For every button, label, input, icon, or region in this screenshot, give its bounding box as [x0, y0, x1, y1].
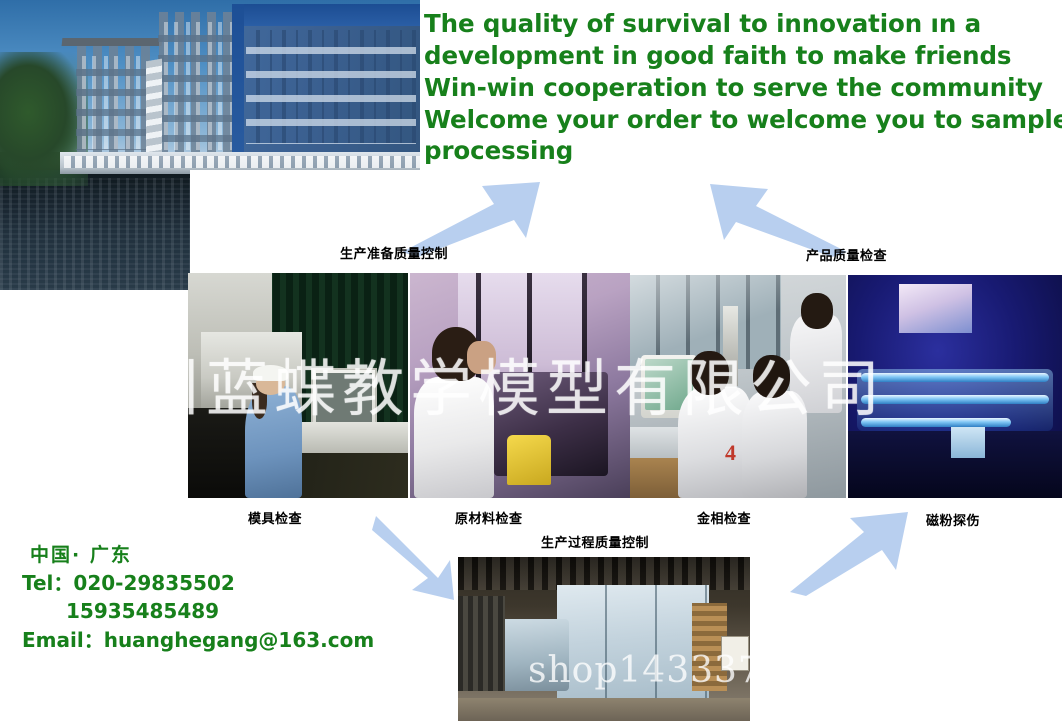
- contact-region: 中国· 广东: [22, 542, 374, 569]
- contact-telephone: Tel：020-29835502: [22, 569, 374, 597]
- label-magnetic-particle: 磁粉探伤: [926, 510, 980, 529]
- label-process-quality-control: 生产过程质量控制: [541, 532, 649, 551]
- label-prep-quality-control: 生产准备质量控制: [340, 243, 448, 262]
- label-mold-check: 模具检查: [248, 508, 302, 527]
- arrow-up-right-magnetic-icon: [788, 508, 913, 596]
- headline-line-5: processing: [424, 135, 1038, 167]
- headline-text: The quality of survival to innovation ın…: [424, 8, 1038, 167]
- chair-number-label: 4: [725, 440, 736, 466]
- headline-line-1: The quality of survival to innovation ın…: [424, 8, 1038, 40]
- photo-raw-material-inspection: [410, 273, 630, 498]
- photo-metallographic-inspection: 4: [630, 275, 846, 498]
- label-product-quality-check: 产品质量检查: [806, 245, 887, 264]
- contact-mobile: 15935485489: [22, 597, 374, 625]
- headline-line-2: development in good faith to make friend…: [424, 40, 1038, 72]
- headline-line-3: Win-win cooperation to serve the communi…: [424, 72, 1038, 104]
- photo-production-process: [458, 557, 750, 721]
- poster-canvas: The quality of survival to innovation ın…: [0, 0, 1062, 721]
- contact-email: Email：huanghegang@163.com: [22, 626, 374, 654]
- building-photo-notch: [190, 170, 420, 290]
- photo-mold-inspection: [188, 273, 408, 498]
- label-metallographic-check: 金相检查: [697, 508, 751, 527]
- headline-line-4: Welcome your order to welcome you to sam…: [424, 104, 1038, 136]
- contact-block: 中国· 广东 Tel：020-29835502 15935485489 Emai…: [22, 542, 374, 654]
- photo-magnetic-particle-testing: [848, 275, 1062, 498]
